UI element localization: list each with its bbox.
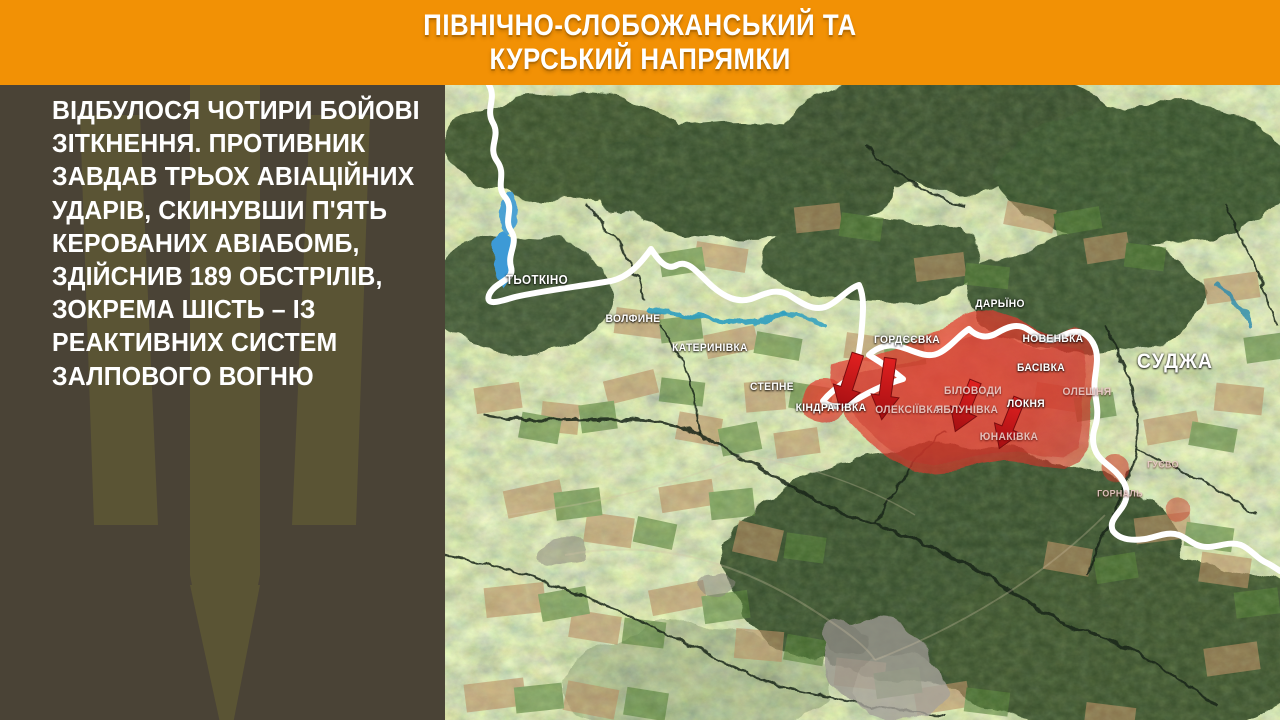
page-title-line-1: ПІВНІЧНО-СЛОБОЖАНСЬКИЙ ТА: [423, 9, 856, 43]
report-line: ЗАЛПОВОГО ВОГНЮ: [52, 361, 434, 394]
page-title-line-2: КУРСЬКИЙ НАПРЯМКИ: [489, 43, 790, 77]
report-line: РЕАКТИВНИХ СИСТЕМ: [52, 327, 434, 360]
report-line: ЗІТКНЕННЯ. ПРОТИВНИК: [52, 128, 434, 161]
header-banner: ПІВНІЧНО-СЛОБОЖАНСЬКИЙ ТА КУРСЬКИЙ НАПРЯ…: [0, 0, 1280, 85]
report-line: УДАРІВ, СКИНУВШИ П'ЯТЬ: [52, 195, 434, 228]
report-line: ЗОКРЕМА ШІСТЬ – ІЗ: [52, 294, 434, 327]
report-panel: ВІДБУЛОСЯ ЧОТИРИ БОЙОВІ ЗІТКНЕННЯ. ПРОТИ…: [0, 85, 445, 720]
infographic-root: ПІВНІЧНО-СЛОБОЖАНСЬКИЙ ТА КУРСЬКИЙ НАПРЯ…: [0, 0, 1280, 720]
report-text-block: ВІДБУЛОСЯ ЧОТИРИ БОЙОВІ ЗІТКНЕННЯ. ПРОТИ…: [52, 95, 444, 394]
report-line: ЗДІЙСНИВ 189 ОБСТРІЛІВ,: [52, 261, 434, 294]
map-imagery-layer: [445, 85, 1280, 720]
report-line: ВІДБУЛОСЯ ЧОТИРИ БОЙОВІ: [52, 95, 434, 128]
report-line: ЗАВДАВ ТРЬОХ АВІАЦІЙНИХ: [52, 161, 434, 194]
map-canvas: [445, 85, 1280, 720]
report-line: КЕРОВАНИХ АВІАБОМБ,: [52, 228, 434, 261]
situation-map[interactable]: ТЬОТКІНОВОЛФИНЕКАТЕРИНІВКАСТЕПНЕКІНДРАТІ…: [445, 85, 1280, 720]
